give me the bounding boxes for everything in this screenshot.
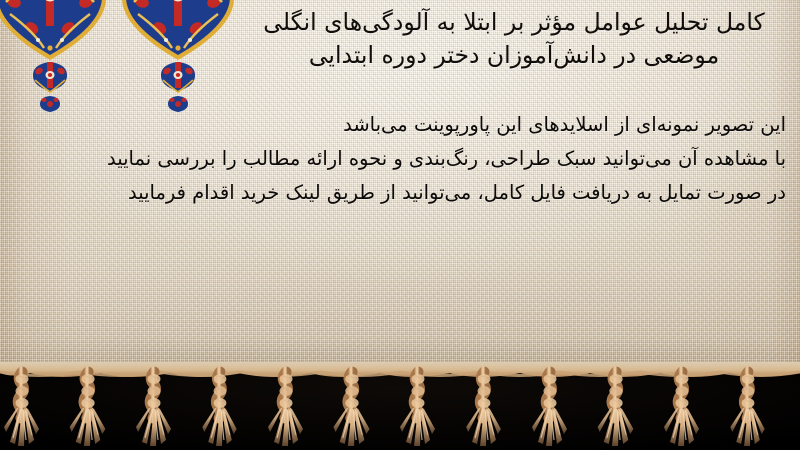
carpet-ornament-group (0, 0, 260, 110)
body-line-3: در صورت تمایل به دریافت فایل کامل، می‌تو… (14, 178, 786, 209)
body-line-1: این تصویر نمونه‌ای از اسلایدهای این پاور… (14, 110, 786, 141)
slide-canvas: کامل تحلیل عوامل مؤثر بر ابتلا به آلودگی… (0, 0, 800, 450)
slide-body-text: این تصویر نمونه‌ای از اسلایدهای این پاور… (14, 110, 786, 211)
carpet-ornament-svg (0, 0, 260, 112)
medallion-left-icon (0, 0, 106, 112)
slide-title-line-1: کامل تحلیل عوامل مؤثر بر ابتلا به آلودگی… (244, 6, 784, 39)
slide-title-line-2: موضعی در دانش‌آموزان دختر دوره ابتدایی (244, 39, 784, 72)
body-line-2: با مشاهده آن می‌توانید سبک طراحی، رنگ‌بن… (14, 144, 786, 175)
carpet-fringe (0, 360, 800, 450)
tassel-row (4, 372, 765, 446)
medallion-right-icon (122, 0, 234, 112)
carpet-fringe-svg (0, 360, 800, 450)
slide-title: کامل تحلیل عوامل مؤثر بر ابتلا به آلودگی… (244, 6, 784, 73)
